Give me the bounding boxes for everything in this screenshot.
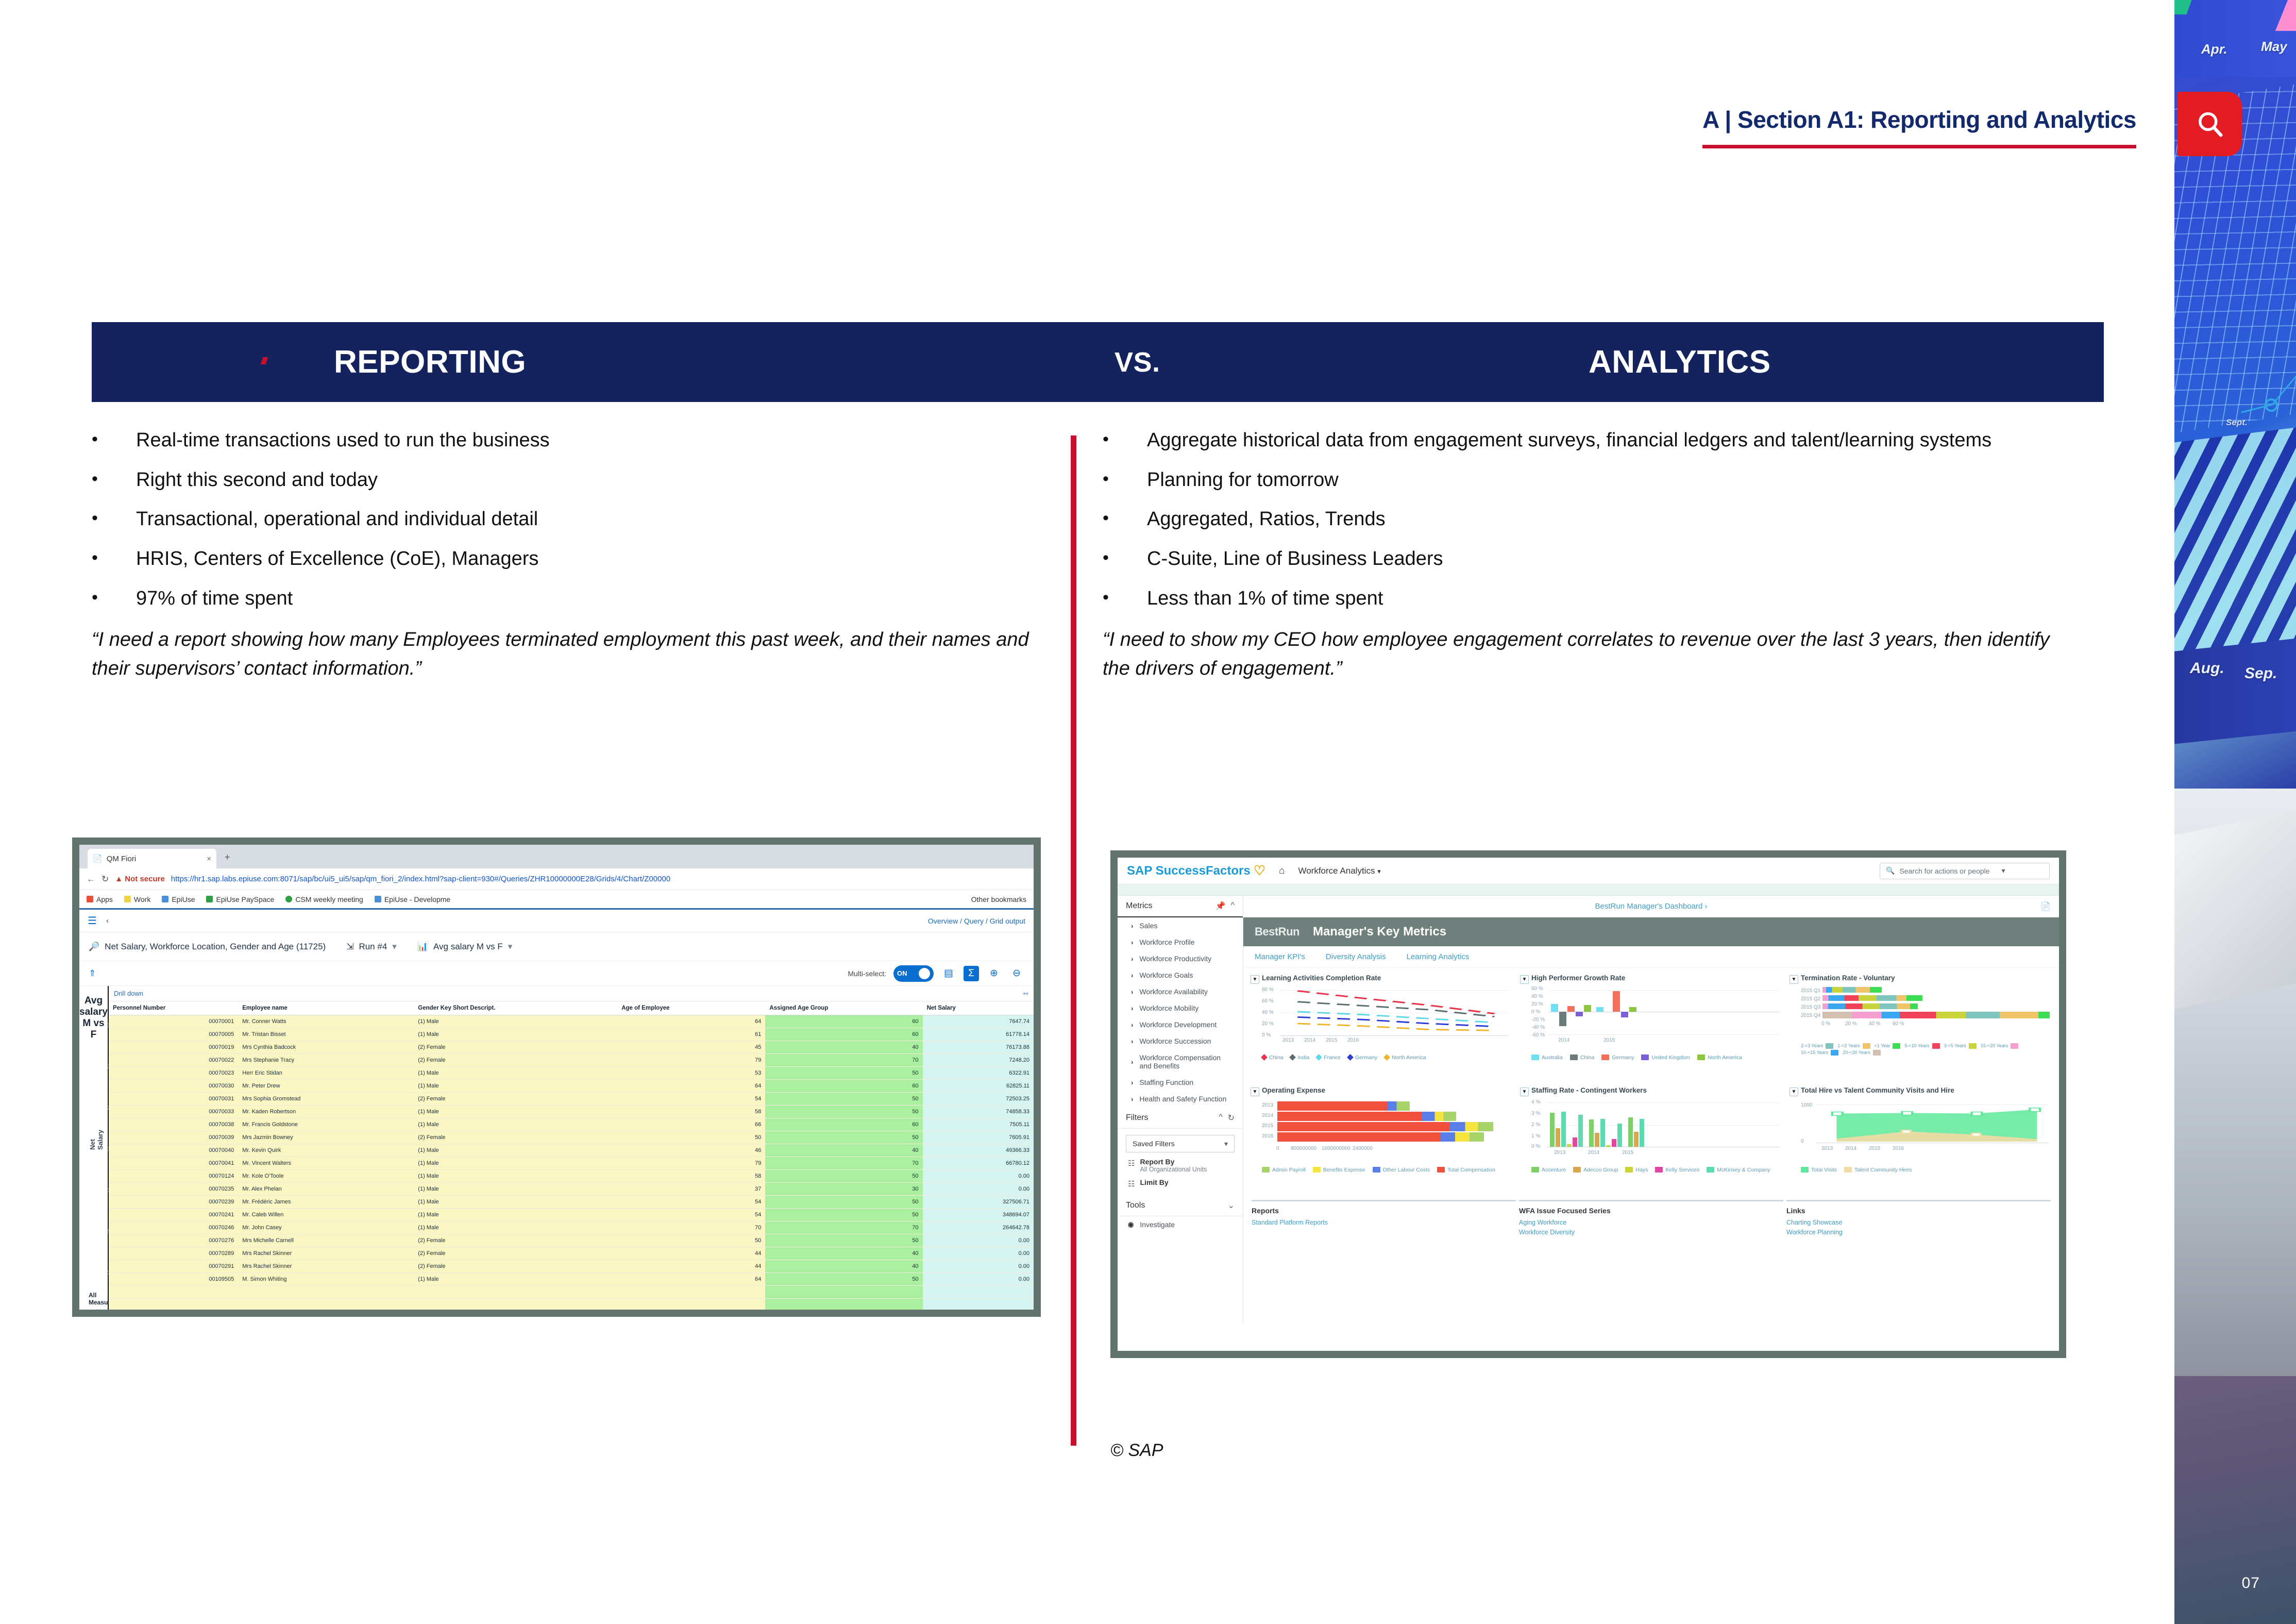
table-cell: 46 — [617, 1144, 765, 1157]
limit-by-label: Limit By — [1140, 1178, 1168, 1186]
section-icons: ^ ↻ — [1219, 1113, 1235, 1123]
bars-group — [79, 1016, 108, 1274]
legend-swatch-icon — [1531, 1167, 1539, 1173]
y-tick-label: 40 % — [1262, 1010, 1274, 1015]
multiselect-label: Multi-select: — [848, 969, 886, 978]
legend-item: Germany — [1601, 1054, 1634, 1061]
table-cell: 0.00 — [923, 1247, 1034, 1260]
sidebar-item-label: Workforce Goals — [1139, 971, 1193, 979]
dashboard-breadcrumb[interactable]: BestRun Manager's Dashboard › 📄 — [1243, 896, 2059, 917]
table-cell: Mr. Tristan Bisset — [238, 1028, 414, 1041]
bookmark-icon — [206, 896, 213, 902]
stacked-bar[interactable] — [1277, 1101, 1410, 1111]
bar[interactable] — [1556, 1128, 1560, 1147]
table-cell: 62825.11 — [923, 1080, 1034, 1093]
x-tick-label: 2016 — [1347, 1037, 1359, 1043]
table-row[interactable]: 00070289Mrs Rachel Skinner(2) Female4440… — [109, 1247, 1034, 1260]
sidebar-item-workforce-succession[interactable]: ›Workforce Succession — [1118, 1033, 1243, 1049]
legend-item: India — [1290, 1054, 1309, 1061]
chart-legend: Australia China Germany United Kingdom N… — [1531, 1054, 1781, 1061]
table-row[interactable]: 00070276Mrs Michelle Carnell(2) Female50… — [109, 1234, 1034, 1247]
table-cell — [109, 1299, 238, 1312]
tools-item-investigate[interactable]: ◉ Investigate — [1118, 1216, 1243, 1233]
new-tab-button[interactable]: + — [225, 852, 230, 863]
table-cell: 44 — [617, 1247, 765, 1260]
sf-top-bar: SAP SuccessFactors ♡ ⌂ Workforce Analyti… — [1118, 858, 2059, 884]
dashboard-title: Manager's Key Metrics — [1313, 925, 1446, 939]
column-header[interactable]: Assigned Age Group — [765, 1001, 922, 1015]
reporting-quote: “I need a report showing how many Employ… — [92, 625, 1040, 683]
table-cell: 54 — [617, 1196, 765, 1209]
drilldown-table: Personnel Number Employee name Gender Ke… — [109, 1001, 1034, 1317]
org-unit-icon: ☷ — [1128, 1159, 1135, 1168]
sidebar-item-workforce-productivity[interactable]: ›Workforce Productivity — [1118, 950, 1243, 967]
x-tick-label: 2016 — [1893, 1146, 1904, 1151]
table-cell — [617, 1286, 765, 1299]
table-cell: 30 — [765, 1183, 922, 1196]
table-cell: 60 — [765, 1080, 922, 1093]
zoom-in-icon[interactable]: ⊕ — [986, 966, 1002, 981]
table-cell: (1) Male — [414, 1209, 617, 1221]
chevron-down-icon[interactable]: ▾ — [392, 942, 397, 952]
table-cell: Mrs Stephanie Tracy — [238, 1054, 414, 1067]
chevron-down-icon: ▾ — [1377, 867, 1381, 875]
bar[interactable] — [1634, 1132, 1639, 1147]
metrics-label: Metrics — [1126, 901, 1153, 911]
sidebar-item-workforce-goals[interactable]: ›Workforce Goals — [1118, 967, 1243, 983]
bar[interactable] — [1576, 1012, 1583, 1016]
chart-canvas: 4 % 3 % 2 % 1 % 0 % — [1531, 1098, 1781, 1163]
saved-filters-select[interactable]: Saved Filters ▾ — [1126, 1135, 1235, 1152]
chevron-left-icon[interactable]: ‹ — [106, 916, 109, 925]
legend-item: McKinsey & Company — [1707, 1167, 1770, 1173]
bar[interactable] — [1559, 1012, 1566, 1026]
table-cell: (1) Male — [414, 1157, 617, 1170]
table-cell: 264642.78 — [923, 1221, 1034, 1234]
table-row[interactable]: 00070001Mr. Conner Watts(1) Male64607647… — [109, 1015, 1034, 1028]
chart-canvas: 1000 0 — [1801, 1098, 2051, 1163]
table-cell: 00070276 — [109, 1234, 238, 1247]
measure-label: Net Salary — [96, 1309, 117, 1317]
tab-learning-analytics[interactable]: Learning Analytics — [1407, 952, 1470, 961]
wfa-link[interactable]: Aging Workforce — [1519, 1218, 1783, 1228]
widget-title: Total Hire vs Talent Community Visits an… — [1801, 1086, 2051, 1095]
bookmark-item[interactable]: EpiUse - Developme — [375, 895, 450, 903]
widget-staffing-rate: ▼ Staffing Rate - Contingent Workers 4 %… — [1518, 1084, 1784, 1194]
chevron-down-icon[interactable]: ▾ — [2002, 866, 2005, 875]
column-header[interactable]: Employee name — [238, 1001, 414, 1015]
hamburger-icon[interactable]: ☰ — [88, 914, 97, 927]
sidebar-item-label: Workforce Profile — [1139, 938, 1194, 946]
legend-item: Australia — [1531, 1054, 1563, 1061]
table-cell — [923, 1312, 1034, 1317]
table-cell: 00109505 — [109, 1273, 238, 1286]
bar[interactable] — [1628, 1117, 1633, 1147]
bookmark-icon — [162, 896, 168, 902]
photo-month-sep: Sep. — [2244, 665, 2277, 682]
back-arrow-icon[interactable]: ← — [87, 874, 95, 884]
widget-menu-icon[interactable]: ▼ — [1789, 975, 1798, 984]
table-cell: 6322.91 — [923, 1067, 1034, 1080]
sidebar-item-health-and-safety-function[interactable]: ›Health and Safety Function — [1118, 1091, 1243, 1107]
chevron-right-icon: › — [1131, 1058, 1133, 1066]
report-by-group: Report By All Organizational Units — [1140, 1158, 1207, 1173]
table-cell: (1) Male — [414, 1015, 617, 1028]
sum-icon[interactable]: Σ — [964, 966, 979, 981]
table-cell: Mrs Jazmin Bowney — [238, 1131, 414, 1144]
table-row[interactable]: 00070041Mr. Vincent Walters(1) Male79706… — [109, 1157, 1034, 1170]
stacked-bar[interactable] — [1822, 1003, 1918, 1009]
bookmark-item[interactable]: Work — [124, 895, 150, 903]
table-cell — [238, 1312, 414, 1317]
limit-by-filter[interactable]: ☷ Limit By — [1126, 1173, 1235, 1188]
table-cell: (1) Male — [414, 1118, 617, 1131]
table-cell: 76173.88 — [923, 1041, 1034, 1054]
table-cell: M. Simon Whiting — [238, 1273, 414, 1286]
y-tick-label: 20 % — [1531, 1001, 1543, 1007]
column-header[interactable]: Age of Employee — [617, 1001, 765, 1015]
bar[interactable] — [1589, 1119, 1594, 1147]
table-cell: 58 — [617, 1106, 765, 1118]
filters-body: Saved Filters ▾ ☷ Report By All Organiza… — [1118, 1129, 1243, 1195]
expand-panel-icon[interactable]: ⇿ — [1023, 990, 1028, 998]
toggle-state: ON — [897, 969, 907, 977]
heart-icon: ♡ — [1254, 863, 1265, 879]
bullet-dot-icon: • — [1103, 467, 1147, 493]
table-row[interactable]: 00070038Mr. Francis Goldstone(1) Male666… — [109, 1118, 1034, 1131]
zoom-out-icon[interactable]: ⊖ — [1009, 966, 1024, 981]
sidebar-item-workforce-development[interactable]: ›Workforce Development — [1118, 1016, 1243, 1033]
stacked-bar[interactable] — [1822, 987, 1882, 993]
table-cell: 50 — [617, 1131, 765, 1144]
bar[interactable] — [1584, 1005, 1591, 1012]
bookmarks-bar: Apps Work EpiUse EpiUse PaySpace CSM wee… — [79, 890, 1034, 910]
tab-title: QM Fiori — [107, 855, 137, 863]
bar[interactable] — [1606, 1145, 1611, 1147]
module-selector[interactable]: Workforce Analytics ▾ — [1298, 866, 1380, 876]
legend-item: United Kingdom — [1641, 1054, 1690, 1061]
stacked-bar[interactable] — [1822, 1012, 2050, 1018]
table-cell: 00070023 — [109, 1067, 238, 1080]
table-cell: 00070005 — [109, 1028, 238, 1041]
bullet-text: Transactional, operational and individua… — [136, 507, 1040, 532]
bar[interactable] — [1621, 1012, 1628, 1017]
breadcrumb-text: BestRun Manager's Dashboard › — [1595, 902, 1708, 911]
table-row[interactable]: 00109505M. Simon Whiting(1) Male64500.00 — [109, 1273, 1034, 1286]
bullet-text: Real-time transactions used to run the b… — [136, 428, 1040, 453]
table-row[interactable]: 00070030Mr. Peter Drew(1) Male646062825.… — [109, 1080, 1034, 1093]
y-tick-label: 1 % — [1531, 1133, 1540, 1139]
table-cell: 37 — [617, 1183, 765, 1196]
bar[interactable] — [1573, 1137, 1577, 1147]
section-icons: ⌄ — [1228, 1200, 1235, 1211]
table-row[interactable]: 00070031Mrs Sophia Gromstead(2) Female54… — [109, 1093, 1034, 1106]
drilldown-header: Drill down ⇿ — [109, 986, 1034, 1001]
column-header[interactable]: Gender Key Short Descript. — [414, 1001, 617, 1015]
expand-all-icon[interactable]: ⇑ — [89, 968, 96, 979]
y-tick-label: 60 % — [1262, 998, 1274, 1004]
table-row[interactable]: 00070033Mr. Kaden Robertson(1) Male58507… — [109, 1106, 1034, 1118]
table-row[interactable]: 00070239Mr. Frédéric James(1) Male545032… — [109, 1196, 1034, 1209]
bar-series-group — [1547, 1098, 1779, 1147]
bar[interactable] — [1550, 1113, 1555, 1147]
table-cell: 00070239 — [109, 1196, 238, 1209]
query-title: Net Salary, Workforce Location, Gender a… — [105, 942, 326, 952]
chart-selector[interactable]: 📊 Avg salary M vs F ▾ — [417, 942, 513, 952]
sidebar-item-label: Workforce Productivity — [1139, 955, 1211, 963]
bar[interactable] — [1567, 1006, 1575, 1012]
close-icon[interactable]: × — [207, 855, 211, 863]
section-title: WFA Issue Focused Series — [1519, 1207, 1783, 1215]
table-cell: 7505.11 — [923, 1118, 1034, 1131]
table-cell: 54 — [617, 1209, 765, 1221]
photo-month-apr: Apr. — [2201, 41, 2227, 57]
stacked-bar[interactable] — [1277, 1112, 1456, 1121]
table-view-icon[interactable]: ▤ — [941, 966, 956, 981]
bar[interactable] — [1612, 1139, 1616, 1147]
chevron-up-icon[interactable]: ^ — [1219, 1113, 1223, 1123]
bookmark-item[interactable]: CSM weekly meeting — [285, 895, 363, 903]
table-cell: 00070124 — [109, 1170, 238, 1183]
bullet-text: Planning for tomorrow — [1147, 467, 2082, 493]
table-row[interactable]: 00070005Mr. Tristan Bisset(1) Male616061… — [109, 1028, 1034, 1041]
sf-dashboard: BestRun Manager's Dashboard › 📄 BestRun … — [1243, 896, 2059, 1324]
bookmark-icon — [124, 896, 131, 902]
query-title-item[interactable]: 🔎 Net Salary, Workforce Location, Gender… — [89, 942, 326, 952]
legend-item: China — [1570, 1054, 1594, 1061]
column-header[interactable]: Personnel Number — [109, 1001, 238, 1015]
chevron-up-icon[interactable]: ^ — [1230, 901, 1235, 911]
table-row[interactable]: 00070241Mr. Caleb Willen(1) Male54503486… — [109, 1209, 1034, 1221]
external-link[interactable]: Charting Showcase — [1786, 1218, 2051, 1228]
tab-diversity-analysis[interactable]: Diversity Analysis — [1326, 952, 1386, 961]
pdf-export-icon[interactable]: 📄 — [2040, 901, 2051, 912]
table-cell: 53 — [617, 1067, 765, 1080]
reset-icon[interactable]: ↻ — [1228, 1113, 1235, 1123]
bar[interactable] — [1567, 1144, 1572, 1147]
bar[interactable] — [1629, 1007, 1636, 1012]
bar[interactable] — [1596, 1007, 1603, 1012]
photo-month-may: May — [2261, 39, 2287, 55]
search-input[interactable]: 🔍 Search for actions or people ▾ — [1880, 863, 2050, 879]
bar[interactable] — [1561, 1112, 1566, 1147]
chevron-right-icon: › — [1131, 1004, 1133, 1012]
run-selector[interactable]: ⇲ Run #4 ▾ — [346, 942, 397, 952]
table-cell: (1) Male — [414, 1106, 617, 1118]
run-icon: ⇲ — [346, 942, 353, 952]
x-tick-label: 2015 — [1603, 1037, 1615, 1043]
chevron-right-icon: › — [1131, 988, 1133, 996]
bar[interactable] — [1617, 1124, 1622, 1147]
multiselect-toggle[interactable]: ON — [893, 965, 934, 982]
table-cell: 0.00 — [923, 1170, 1034, 1183]
browser-chrome: 📄 QM Fiori × + — [79, 845, 1034, 868]
bookmark-item[interactable]: Apps — [87, 895, 113, 903]
table-cell: 00070031 — [109, 1093, 238, 1106]
table-cell: Mrs Rachel Skinner — [238, 1247, 414, 1260]
list-item: • HRIS, Centers of Excellence (CoE), Man… — [92, 546, 1040, 572]
reload-icon[interactable]: ↻ — [102, 874, 109, 884]
bullet-dot-icon: • — [92, 546, 136, 572]
table-cell: 00070041 — [109, 1157, 238, 1170]
search-icon: 🔍 — [1886, 866, 1895, 875]
report-by-label: Report By — [1140, 1158, 1207, 1166]
table-cell — [414, 1286, 617, 1299]
stacked-bar[interactable] — [1277, 1132, 1484, 1142]
other-bookmarks-button[interactable]: Other bookmarks — [971, 895, 1026, 903]
widget-menu-icon[interactable]: ▼ — [1520, 1087, 1529, 1096]
table-cell: 72503.25 — [923, 1093, 1034, 1106]
table-row[interactable]: 00070246Mr. John Casey(1) Male7070264642… — [109, 1221, 1034, 1234]
table-row[interactable]: 00070291Mrs Rachel Skinner(2) Female4440… — [109, 1260, 1034, 1273]
table-cell: Mr. Conner Watts — [238, 1015, 414, 1028]
x-tick-label: 40 % — [1869, 1021, 1881, 1027]
report-by-filter[interactable]: ☷ Report By All Organizational Units — [1126, 1152, 1235, 1173]
table-cell: 327506.71 — [923, 1196, 1034, 1209]
bullet-text: Aggregated, Ratios, Trends — [1147, 507, 2082, 532]
dashboard-link-sections: Reports Standard Platform Reports WFA Is… — [1243, 1198, 2059, 1240]
widget-menu-icon[interactable]: ▼ — [1789, 1087, 1798, 1096]
table-cell: 7605.91 — [923, 1131, 1034, 1144]
sidebar-item-workforce-availability[interactable]: ›Workforce Availability — [1118, 983, 1243, 1000]
org-unit-icon: ☷ — [1128, 1179, 1135, 1188]
legend-item: 10-<15 Years — [1801, 1050, 1838, 1056]
browser-tab[interactable]: 📄 QM Fiori × — [88, 849, 216, 868]
table-row[interactable]: 00070019Mrs Cynthia Badcock(2) Female454… — [109, 1041, 1034, 1054]
external-link[interactable]: Workforce Planning — [1786, 1228, 2051, 1237]
sidebar-item-staffing-function[interactable]: ›Staffing Function — [1118, 1074, 1243, 1091]
table-cell: Mr. John Casey — [238, 1221, 414, 1234]
legend-swatch-icon — [1347, 1054, 1354, 1061]
widget-menu-icon[interactable]: ▼ — [1251, 975, 1259, 984]
bar[interactable] — [1551, 1004, 1558, 1012]
stacked-bar[interactable] — [1822, 995, 1922, 1001]
sidebar-item-workforce-profile[interactable]: ›Workforce Profile — [1118, 934, 1243, 950]
url-text[interactable]: https://hr1.sap.labs.epiuse.com:8071/sap… — [171, 875, 670, 883]
widget-menu-icon[interactable]: ▼ — [1520, 975, 1529, 984]
sidebar-item-workforce-mobility[interactable]: ›Workforce Mobility — [1118, 1000, 1243, 1016]
chevron-right-icon: › — [1131, 922, 1133, 930]
metrics-list: ›Sales›Workforce Profile›Workforce Produ… — [1118, 917, 1243, 1107]
table-cell: (2) Female — [414, 1247, 617, 1260]
list-item: • Aggregated, Ratios, Trends — [1103, 507, 2082, 532]
bar[interactable] — [1613, 991, 1620, 1012]
x-tick-label: 0 % — [1821, 1021, 1830, 1027]
pin-icon[interactable]: 📌 — [1215, 901, 1226, 911]
analytics-bullet-list: • Aggregate historical data from engagem… — [1103, 428, 2082, 611]
y-tick-label: 40 % — [1531, 994, 1543, 999]
table-cell: 00070235 — [109, 1183, 238, 1196]
list-item: • Right this second and today — [92, 467, 1040, 493]
table-row[interactable]: 00070235Mr. Alex Phelan(1) Male37300.00 — [109, 1183, 1034, 1196]
widget-learning-activities: ▼ Learning Activities Completion Rate 80… — [1248, 972, 1515, 1081]
legend-swatch-icon — [1261, 1054, 1268, 1061]
widget-menu-icon[interactable]: ▼ — [1251, 1087, 1259, 1096]
y-tick-label: 0 — [1801, 1139, 1804, 1144]
table-row[interactable]: 00070022Mrs Stephanie Tracy(2) Female797… — [109, 1054, 1034, 1067]
table-cell: 50 — [765, 1196, 922, 1209]
table-cell: Mr. Kevin Quirk — [238, 1144, 414, 1157]
bullet-text: 97% of time spent — [136, 586, 1040, 611]
table-cell: 00070241 — [109, 1209, 238, 1221]
measure-swatch-icon — [89, 1312, 93, 1317]
chevron-down-icon[interactable]: ⌄ — [1228, 1200, 1235, 1211]
chart-canvas: Net Salary 300,000 250,000 200,000 150,0… — [79, 1016, 108, 1317]
legend-swatch-icon — [1290, 1054, 1296, 1061]
chart-canvas: 2015 Q1 2015 Q2 2015 Q3 2015 Q4 0 % 20 %… — [1801, 986, 2051, 1050]
sidebar-item-workforce-compensation-and-benefits[interactable]: ›Workforce Compensation and Benefits — [1118, 1049, 1243, 1074]
widget-high-performer-growth: ▼ High Performer Growth Rate 60 % 40 % 2… — [1518, 972, 1784, 1081]
y-tick-label: 0 % — [1531, 1144, 1540, 1149]
line-series-group — [1280, 986, 1509, 1035]
wfa-link[interactable]: Workforce Diversity — [1519, 1228, 1783, 1237]
analytics-screenshot: SAP SuccessFactors ♡ ⌂ Workforce Analyti… — [1110, 850, 2066, 1358]
photo-node-line — [2210, 356, 2296, 464]
table-cell: 00070019 — [109, 1041, 238, 1054]
table-cell: 60 — [765, 1028, 922, 1041]
x-tick-label: 2014 — [1845, 1146, 1856, 1151]
bar[interactable] — [1578, 1115, 1583, 1147]
sidebar-item-sales[interactable]: ›Sales — [1118, 917, 1243, 934]
legend-swatch-icon — [1315, 1054, 1322, 1061]
table-cell — [238, 1286, 414, 1299]
bar[interactable] — [1595, 1133, 1599, 1147]
browser-url-bar[interactable]: ← ↻ ▲ Not secure https://hr1.sap.labs.ep… — [79, 868, 1034, 890]
stacked-bar[interactable] — [1277, 1122, 1493, 1131]
bar[interactable] — [1640, 1119, 1644, 1147]
dashboard-title-bar: BestRun Manager's Key Metrics — [1243, 917, 2059, 946]
search-icon — [2194, 109, 2225, 140]
list-item: • Planning for tomorrow — [1103, 467, 2082, 493]
list-item: • Aggregate historical data from engagem… — [1103, 428, 2082, 453]
bookmark-item[interactable]: EpiUse — [162, 895, 195, 903]
table-row[interactable]: 00070039Mrs Jazmin Bowney(2) Female50507… — [109, 1131, 1034, 1144]
column-header[interactable]: Net Salary — [923, 1001, 1034, 1015]
dashboard-tabs: Manager KPI's Diversity Analysis Learnin… — [1243, 946, 2059, 968]
table-row[interactable]: 00070124Mr. Kole O'Toole(1) Male58500.00 — [109, 1170, 1034, 1183]
page-number: 07 — [2242, 1575, 2260, 1592]
legend-swatch-icon — [1531, 1054, 1539, 1060]
report-link[interactable]: Standard Platform Reports — [1252, 1218, 1516, 1228]
chevron-down-icon[interactable]: ▾ — [508, 942, 513, 952]
metrics-section-header: Metrics 📌 ^ — [1118, 896, 1243, 917]
legend-swatch-icon — [1625, 1167, 1633, 1173]
bookmark-item[interactable]: EpiUse PaySpace — [206, 895, 274, 903]
table-cell: (2) Female — [414, 1260, 617, 1273]
table-cell — [765, 1312, 922, 1317]
toolbar-right-group: Multi-select: ON ▤ Σ ⊕ ⊖ — [848, 965, 1024, 982]
chevron-right-icon: › — [1131, 939, 1133, 946]
search-button[interactable] — [2177, 92, 2242, 156]
bullet-dot-icon: • — [1103, 507, 1147, 532]
home-icon[interactable]: ⌂ — [1279, 865, 1285, 877]
bar[interactable] — [1600, 1119, 1605, 1147]
section-title: Reports — [1252, 1207, 1516, 1215]
table-row[interactable]: 00070023Herr Eric Stidan(1) Male53506322… — [109, 1067, 1034, 1080]
table-header-row: Personnel Number Employee name Gender Ke… — [109, 1001, 1034, 1015]
table-cell: 50 — [765, 1234, 922, 1247]
table-cell: (1) Male — [414, 1183, 617, 1196]
chart-panel: Avg salary M vs F Net Salary 300,000 250… — [79, 986, 109, 1317]
chevron-right-icon: › — [1131, 1095, 1133, 1103]
table-row[interactable]: 00070040Mr. Kevin Quirk(1) Male464049366… — [109, 1144, 1034, 1157]
legend-item: Admin Payroll — [1262, 1167, 1306, 1173]
table-cell: 40 — [765, 1260, 922, 1273]
tab-manager-kpis[interactable]: Manager KPI's — [1255, 952, 1305, 961]
sidebar-item-label: Sales — [1139, 922, 1157, 930]
legend-swatch-icon — [1844, 1167, 1852, 1173]
legend-swatch-icon — [1313, 1167, 1321, 1173]
